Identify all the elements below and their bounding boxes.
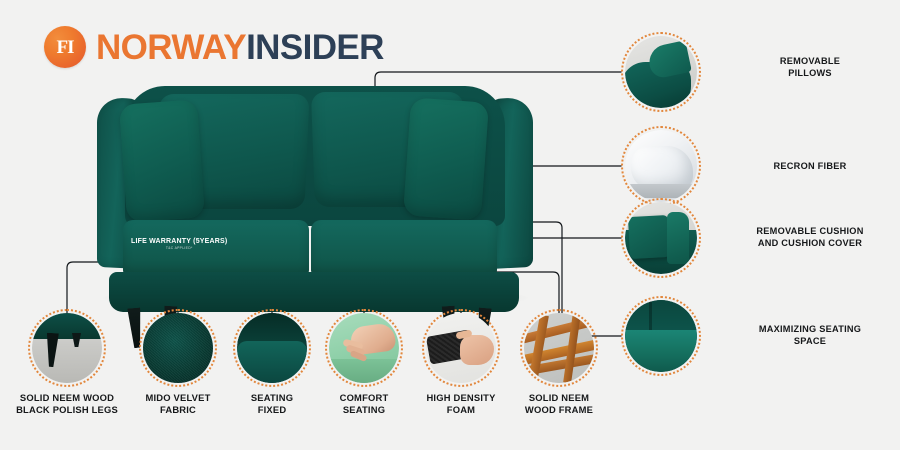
callout-solid-neem-wood-legs[interactable] bbox=[32, 313, 102, 383]
wordmark-primary: NORWAY bbox=[96, 28, 246, 67]
callout-label-maximizing-seating: MAXIMIZING SEATING SPACE bbox=[715, 324, 900, 348]
brand-logo: FI NORWAYINSIDER bbox=[44, 26, 384, 68]
logo-monogram: FI bbox=[57, 38, 74, 57]
callout-solid-neem-wood-frame[interactable] bbox=[524, 313, 594, 383]
seat-fixed-thumb bbox=[237, 313, 307, 383]
callout-maximizing-seating[interactable] bbox=[625, 300, 697, 372]
warranty-badge-title: LIFE WARRANTY (5YEARS) bbox=[131, 238, 227, 245]
callout-mido-velvet-fabric[interactable] bbox=[143, 313, 213, 383]
sofa-leg-floor-thumb bbox=[32, 313, 102, 383]
white-fiber-thumb bbox=[625, 130, 697, 202]
sofa-base bbox=[109, 272, 519, 312]
green-pillow-thumb bbox=[625, 36, 697, 108]
warranty-badge: LIFE WARRANTY (5YEARS) T&C APPLIED* bbox=[131, 238, 227, 250]
norway-insider-logo-icon: FI bbox=[44, 26, 86, 68]
velvet-fabric-thumb bbox=[143, 313, 213, 383]
infographic-canvas: FI NORWAYINSIDER bbox=[0, 0, 900, 450]
green-seat-thumb bbox=[625, 300, 697, 372]
callout-label-removable-pillows: REMOVABLE PILLOWS bbox=[715, 56, 900, 80]
wordmark: NORWAYINSIDER bbox=[96, 30, 384, 65]
callout-label-removable-cushion: REMOVABLE CUSHION AND CUSHION COVER bbox=[715, 226, 900, 250]
callout-removable-pillows[interactable] bbox=[625, 36, 697, 108]
wooden-frame-thumb bbox=[524, 313, 594, 383]
callout-recron-fiber[interactable] bbox=[625, 130, 697, 202]
wordmark-secondary: INSIDER bbox=[246, 28, 384, 67]
callout-high-density-foam[interactable] bbox=[426, 313, 496, 383]
sofa-pillow-left bbox=[119, 99, 205, 222]
hand-squeeze-foam-thumb bbox=[426, 313, 496, 383]
callout-removable-cushion[interactable] bbox=[625, 202, 697, 274]
callout-comfort-seating[interactable] bbox=[329, 313, 399, 383]
sofa-illustration: LIFE WARRANTY (5YEARS) T&C APPLIED* bbox=[95, 80, 535, 320]
sofa-pillow-right bbox=[403, 97, 489, 220]
callout-label-recron-fiber: RECRON FIBER bbox=[715, 161, 900, 173]
warranty-badge-subtitle: T&C APPLIED* bbox=[131, 246, 227, 250]
sofa-seat-cushion-right bbox=[311, 220, 497, 276]
callout-seating-fixed[interactable] bbox=[237, 313, 307, 383]
green-cushion-corner-thumb bbox=[625, 202, 697, 274]
sofa-leg bbox=[127, 308, 143, 349]
callout-label-solid-neem-wood-frame: SOLID NEEM WOOD FRAME bbox=[494, 392, 624, 416]
hand-on-foam-thumb bbox=[329, 313, 399, 383]
